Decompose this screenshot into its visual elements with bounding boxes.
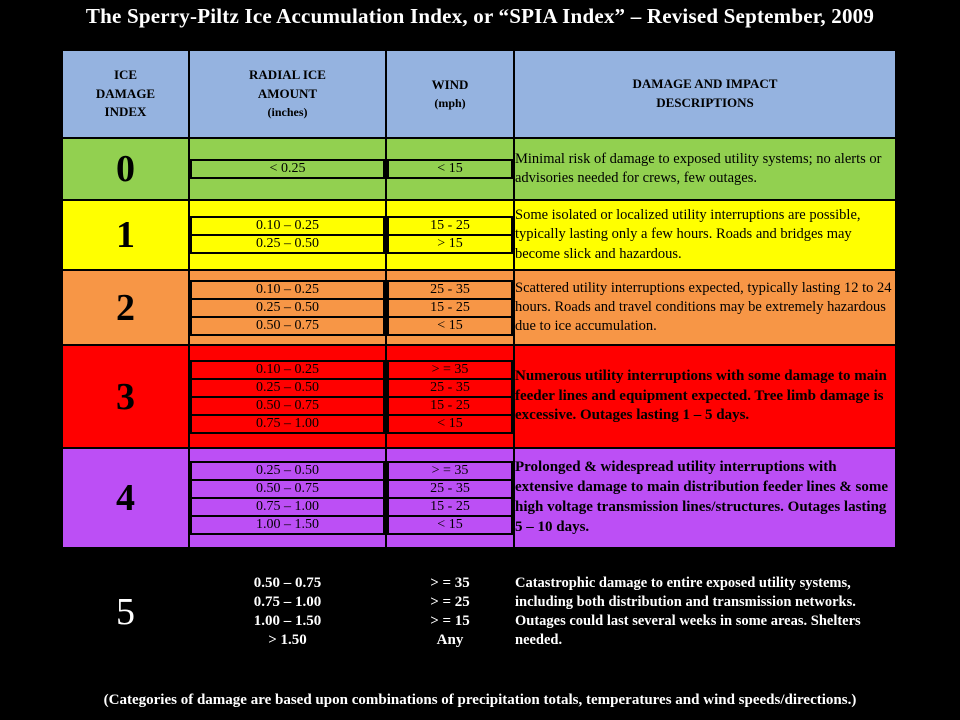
wind-value: < 15: [388, 160, 512, 178]
wind-cell: > = 35 25 - 35 15 - 25 < 15: [386, 448, 514, 548]
list-item: < 15: [388, 160, 512, 178]
header-ice-damage-index: ICE DAMAGE INDEX: [62, 50, 189, 138]
wind-value: 15 - 25: [388, 498, 512, 516]
list-item: < 0.25: [191, 160, 384, 178]
ice-value: 0.25 – 0.50: [191, 299, 384, 317]
index-value: 4: [62, 448, 189, 548]
wind-cell: < 15: [386, 138, 514, 200]
list-item: > = 35: [388, 574, 512, 593]
list-item: Any: [388, 631, 512, 650]
ice-value: 0.25 – 0.50: [191, 235, 384, 253]
header-line-3: INDEX: [63, 103, 188, 122]
description-cell: Prolonged & widespread utility interrupt…: [514, 448, 896, 548]
index-value: 5: [62, 548, 189, 676]
ice-amount-list: < 0.25: [190, 159, 385, 179]
list-item: < 15: [388, 317, 512, 335]
ice-amount-cell: 0.10 – 0.25 0.25 – 0.50 0.50 – 0.75: [189, 270, 386, 345]
ice-value: 0.10 – 0.25: [191, 217, 384, 235]
wind-value: 25 - 35: [388, 281, 512, 299]
list-item: > = 15: [388, 612, 512, 631]
list-item: 0.75 – 1.00: [191, 415, 384, 433]
ice-value: < 0.25: [191, 160, 384, 178]
wind-value: > = 35: [388, 574, 512, 593]
wind-value: > = 35: [388, 361, 512, 379]
table-row: 1 0.10 – 0.25 0.25 – 0.50 15 - 25 > 15 S…: [62, 200, 896, 270]
ice-value: 1.00 – 1.50: [191, 516, 384, 534]
footer-note: (Categories of damage are based upon com…: [0, 692, 960, 709]
list-item: 0.10 – 0.25: [191, 217, 384, 235]
wind-list: > = 35 25 - 35 15 - 25 < 15: [387, 360, 513, 434]
ice-value: 0.10 – 0.25: [191, 281, 384, 299]
table-row: 0 < 0.25 < 15 Minimal risk of damage to …: [62, 138, 896, 200]
header-radial-ice-amount: RADIAL ICE AMOUNT (inches): [189, 50, 386, 138]
ice-value: 0.10 – 0.25: [191, 361, 384, 379]
wind-list: 25 - 35 15 - 25 < 15: [387, 280, 513, 336]
header-sub-unit: (mph): [387, 95, 513, 112]
ice-amount-list: 0.10 – 0.25 0.25 – 0.50 0.50 – 0.75: [190, 280, 385, 336]
header-line-1: RADIAL ICE: [190, 66, 385, 85]
list-item: 15 - 25: [388, 498, 512, 516]
list-item: 0.50 – 0.75: [191, 317, 384, 335]
list-item: 0.25 – 0.50: [191, 235, 384, 253]
header-line-2: DAMAGE: [63, 85, 188, 104]
index-value: 1: [62, 200, 189, 270]
wind-value: 25 - 35: [388, 379, 512, 397]
list-item: 25 - 35: [388, 379, 512, 397]
header-line-1: DAMAGE AND IMPACT: [515, 75, 895, 94]
list-item: 1.00 – 1.50: [191, 612, 384, 631]
list-item: 0.75 – 1.00: [191, 593, 384, 612]
wind-value: 25 - 35: [388, 480, 512, 498]
wind-cell: 25 - 35 15 - 25 < 15: [386, 270, 514, 345]
list-item: 15 - 25: [388, 299, 512, 317]
ice-value: 0.50 – 0.75: [191, 574, 384, 593]
wind-cell: > = 35 25 - 35 15 - 25 < 15: [386, 345, 514, 448]
list-item: 0.25 – 0.50: [191, 379, 384, 397]
list-item: > 15: [388, 235, 512, 253]
list-item: 0.50 – 0.75: [191, 574, 384, 593]
ice-amount-cell: 0.25 – 0.50 0.50 – 0.75 0.75 – 1.00 1.00…: [189, 448, 386, 548]
list-item: 0.25 – 0.50: [191, 462, 384, 480]
index-value: 2: [62, 270, 189, 345]
list-item: 25 - 35: [388, 281, 512, 299]
table-row: 4 0.25 – 0.50 0.50 – 0.75 0.75 – 1.00 1.…: [62, 448, 896, 548]
list-item: 15 - 25: [388, 217, 512, 235]
header-line-2: DESCRIPTIONS: [515, 94, 895, 113]
ice-amount-cell: 0.50 – 0.75 0.75 – 1.00 1.00 – 1.50 > 1.…: [189, 548, 386, 676]
list-item: < 15: [388, 415, 512, 433]
list-item: 0.75 – 1.00: [191, 498, 384, 516]
page-title: The Sperry-Piltz Ice Accumulation Index,…: [0, 4, 960, 29]
list-item: 0.10 – 0.25: [191, 361, 384, 379]
list-item: 25 - 35: [388, 480, 512, 498]
ice-value: 0.25 – 0.50: [191, 379, 384, 397]
ice-value: 0.75 – 1.00: [191, 415, 384, 433]
table-row: 3 0.10 – 0.25 0.25 – 0.50 0.50 – 0.75 0.…: [62, 345, 896, 448]
header-wind: WIND (mph): [386, 50, 514, 138]
wind-list: < 15: [387, 159, 513, 179]
wind-value: 15 - 25: [388, 217, 512, 235]
list-item: 0.50 – 0.75: [191, 480, 384, 498]
header-sub-unit: (inches): [190, 104, 385, 121]
header-line-2: AMOUNT: [190, 85, 385, 104]
description-cell: Numerous utility interruptions with some…: [514, 345, 896, 448]
wind-list: > = 35 > = 25 > = 15 Any: [387, 573, 513, 651]
description-text: Catastrophic damage to entire exposed ut…: [515, 574, 895, 651]
ice-amount-cell: 0.10 – 0.25 0.25 – 0.50: [189, 200, 386, 270]
list-item: 0.10 – 0.25: [191, 281, 384, 299]
ice-value: 0.50 – 0.75: [191, 397, 384, 415]
ice-value: 0.75 – 1.00: [191, 593, 384, 612]
ice-amount-list: 0.50 – 0.75 0.75 – 1.00 1.00 – 1.50 > 1.…: [190, 573, 385, 651]
list-item: > = 35: [388, 361, 512, 379]
ice-value: 0.75 – 1.00: [191, 498, 384, 516]
list-item: < 15: [388, 516, 512, 534]
list-item: > = 25: [388, 593, 512, 612]
wind-value: > = 35: [388, 462, 512, 480]
ice-amount-cell: 0.10 – 0.25 0.25 – 0.50 0.50 – 0.75 0.75…: [189, 345, 386, 448]
table-row: 5 0.50 – 0.75 0.75 – 1.00 1.00 – 1.50 > …: [62, 548, 896, 676]
header-line-1: ICE: [63, 66, 188, 85]
header-damage-and-impact-descriptions: DAMAGE AND IMPACT DESCRIPTIONS: [514, 50, 896, 138]
ice-value: 0.50 – 0.75: [191, 480, 384, 498]
table-header-row: ICE DAMAGE INDEX RADIAL ICE AMOUNT (inch…: [62, 50, 896, 138]
table-row: 2 0.10 – 0.25 0.25 – 0.50 0.50 – 0.75 25…: [62, 270, 896, 345]
wind-value: 15 - 25: [388, 397, 512, 415]
wind-list: > = 35 25 - 35 15 - 25 < 15: [387, 461, 513, 535]
description-cell: Minimal risk of damage to exposed utilit…: [514, 138, 896, 200]
wind-value: > = 15: [388, 612, 512, 631]
wind-value: Any: [388, 631, 512, 650]
wind-value: > 15: [388, 235, 512, 253]
list-item: 0.25 – 0.50: [191, 299, 384, 317]
list-item: 15 - 25: [388, 397, 512, 415]
wind-cell: > = 35 > = 25 > = 15 Any: [386, 548, 514, 676]
wind-value: < 15: [388, 317, 512, 335]
ice-amount-list: 0.25 – 0.50 0.50 – 0.75 0.75 – 1.00 1.00…: [190, 461, 385, 535]
spia-index-table: ICE DAMAGE INDEX RADIAL ICE AMOUNT (inch…: [61, 49, 897, 677]
wind-value: < 15: [388, 415, 512, 433]
ice-amount-list: 0.10 – 0.25 0.25 – 0.50 0.50 – 0.75 0.75…: [190, 360, 385, 434]
wind-cell: 15 - 25 > 15: [386, 200, 514, 270]
ice-value: 0.25 – 0.50: [191, 462, 384, 480]
wind-value: 15 - 25: [388, 299, 512, 317]
ice-value: > 1.50: [191, 631, 384, 650]
list-item: 0.50 – 0.75: [191, 397, 384, 415]
header-line-1: WIND: [387, 76, 513, 95]
ice-value: 1.00 – 1.50: [191, 612, 384, 631]
list-item: > = 35: [388, 462, 512, 480]
list-item: > 1.50: [191, 631, 384, 650]
description-cell: Scattered utility interruptions expected…: [514, 270, 896, 345]
description-cell: Some isolated or localized utility inter…: [514, 200, 896, 270]
ice-amount-list: 0.10 – 0.25 0.25 – 0.50: [190, 216, 385, 254]
wind-list: 15 - 25 > 15: [387, 216, 513, 254]
index-value: 3: [62, 345, 189, 448]
ice-value: 0.50 – 0.75: [191, 317, 384, 335]
ice-amount-cell: < 0.25: [189, 138, 386, 200]
wind-value: > = 25: [388, 593, 512, 612]
description-cell: Catastrophic damage to entire exposed ut…: [514, 548, 896, 676]
list-item: 1.00 – 1.50: [191, 516, 384, 534]
wind-value: < 15: [388, 516, 512, 534]
index-value: 0: [62, 138, 189, 200]
spia-index-poster: The Sperry-Piltz Ice Accumulation Index,…: [0, 0, 960, 720]
